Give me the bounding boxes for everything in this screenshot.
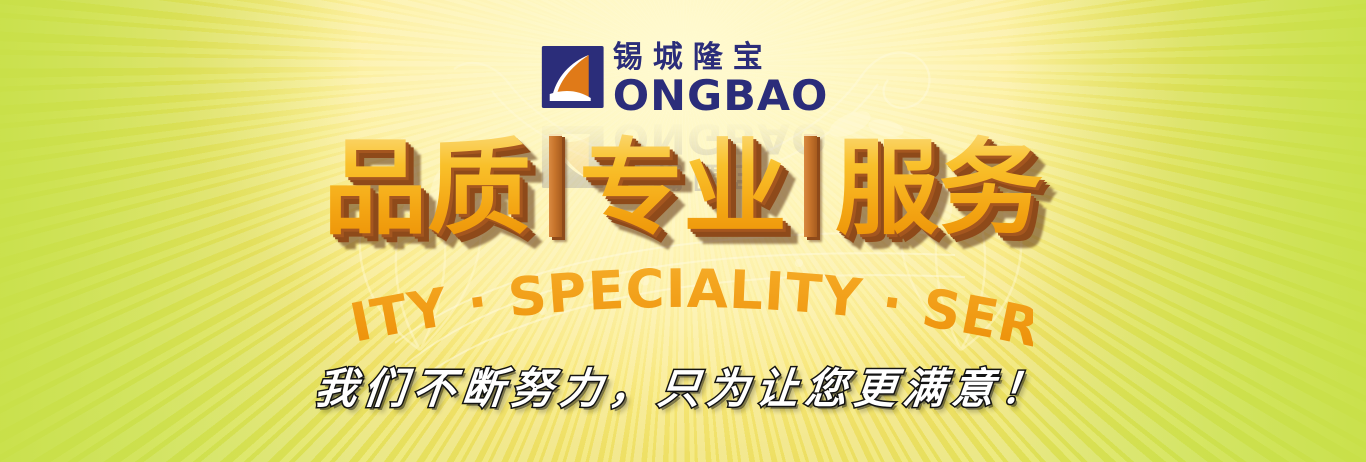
logo-wordmark: 锡城隆宝 ONGBAO [613, 43, 825, 117]
headline-word-speciality: 专业 [579, 132, 787, 244]
headline-separator-2 [804, 134, 817, 237]
headline-word-service: 服务 [835, 132, 1043, 244]
chinese-tagline: 我们不断努力，只为让您更满意！ [0, 355, 1366, 416]
longbao-sail-mark-icon [542, 46, 604, 108]
headline-3d: 品质 专业 服务 [0, 132, 1366, 244]
headline-word-quality: 品质 [323, 132, 531, 244]
chinese-tagline-text: 我们不断努力，只为让您更满意！ [312, 355, 1053, 416]
company-logo[interactable]: 锡城隆宝 ONGBAO [542, 43, 825, 117]
logo-english-name: ONGBAO [613, 75, 829, 117]
headline-separator-1 [549, 134, 562, 237]
promotional-banner: 锡城隆宝 ONGBAO 锡城隆宝 ONGBAO 品质 专业 服务 [0, 0, 1366, 462]
logo-chinese-name: 锡城隆宝 [613, 43, 825, 73]
